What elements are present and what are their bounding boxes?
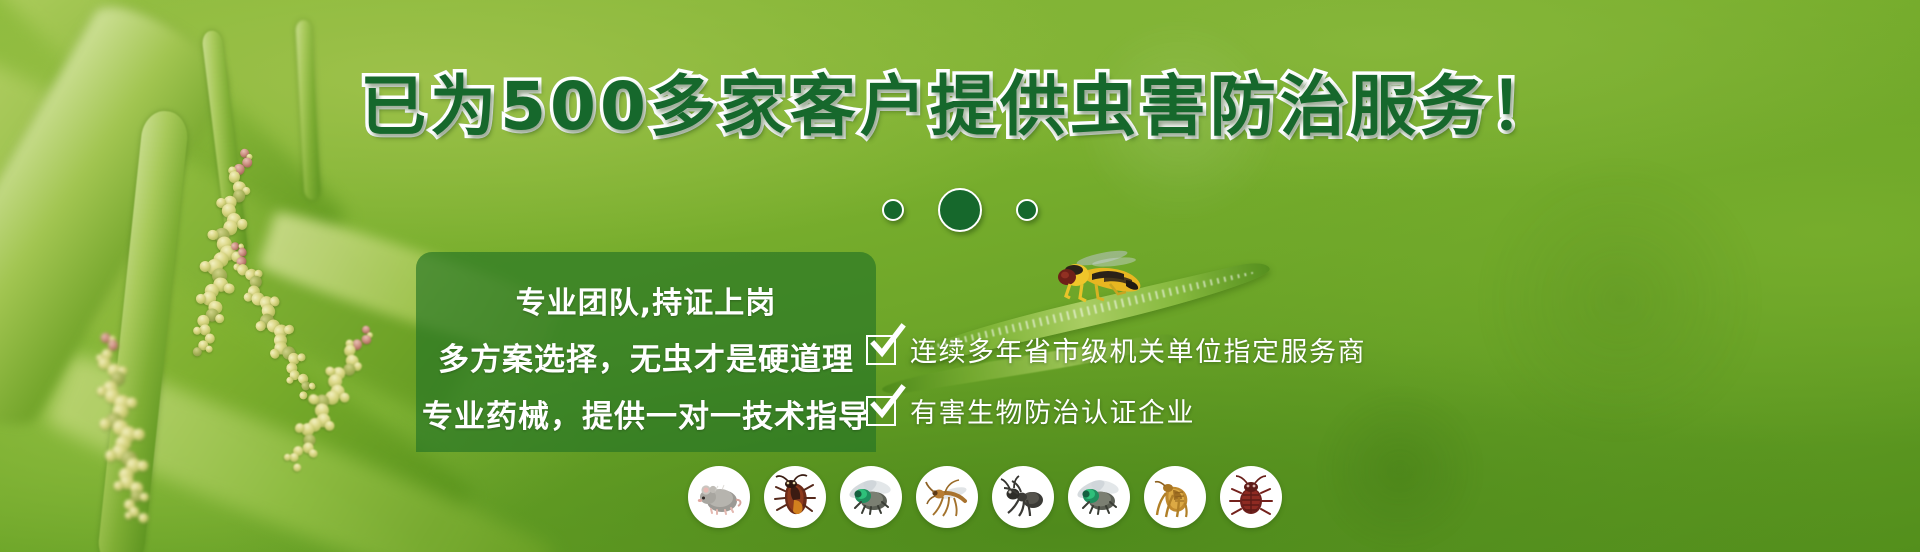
checkbox-check-icon <box>866 335 896 365</box>
ant-icon <box>992 466 1054 528</box>
blowfly-icon <box>840 466 902 528</box>
selling-points-panel: 专业团队,持证上岗 多方案选择，无虫才是硬道理 专业药械，提供一对一技术指导 <box>416 252 876 452</box>
bullet-label: 连续多年省市级机关单位指定服务商 <box>910 330 1366 369</box>
bedbug-icon <box>1220 466 1282 528</box>
list-item: 连续多年省市级机关单位指定服务商 <box>866 330 1366 369</box>
housefly-icon <box>1068 466 1130 528</box>
selling-point-line-1: 专业团队,持证上岗 <box>516 278 776 322</box>
decorative-dot-group <box>0 188 1920 232</box>
mosquito-icon <box>916 466 978 528</box>
decorative-dot-large-center <box>938 188 982 232</box>
selling-point-line-2: 多方案选择，无虫才是硬道理 <box>438 334 854 379</box>
checkbox-check-icon <box>866 396 896 426</box>
banner-headline-text: 已为500多家客户提供虫害防治服务！ <box>360 68 1560 145</box>
decorative-dot-small-right <box>1016 199 1038 221</box>
rodent-mouse-icon <box>688 466 750 528</box>
flea-icon <box>1144 466 1206 528</box>
certification-bullet-list: 连续多年省市级机关单位指定服务商 有害生物防治认证企业 <box>866 330 1366 430</box>
bullet-label: 有害生物防治认证企业 <box>910 391 1195 430</box>
cockroach-icon <box>764 466 826 528</box>
list-item: 有害生物防治认证企业 <box>866 391 1366 430</box>
selling-point-line-3: 专业药械，提供一对一技术指导 <box>422 391 870 436</box>
hoverfly-insect <box>1040 246 1160 310</box>
banner-headline: 已为500多家客户提供虫害防治服务！ <box>0 74 1920 140</box>
decorative-dot-small-left <box>882 199 904 221</box>
pest-icon-row <box>688 466 1282 528</box>
pest-control-banner: 已为500多家客户提供虫害防治服务！ 专业团队,持证上岗 多方案选择，无虫才是硬… <box>0 0 1920 552</box>
